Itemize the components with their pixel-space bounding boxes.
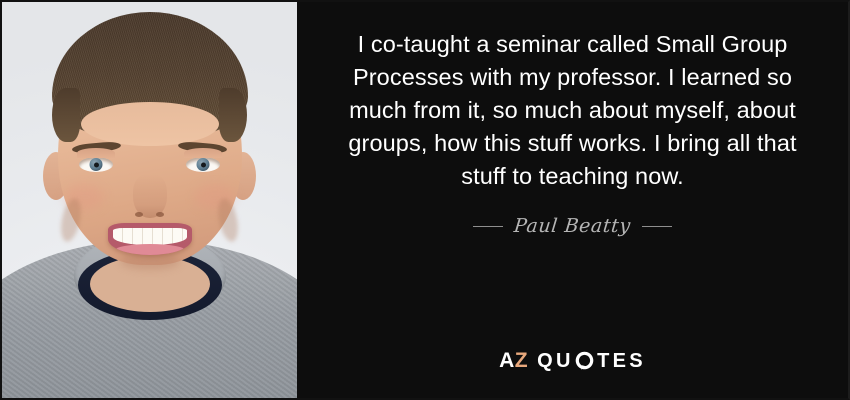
hair-temple-left <box>52 88 80 142</box>
quote-pane: I co-taught a seminar called Small Group… <box>297 0 850 400</box>
logo-quotes-suffix: TES <box>597 351 646 371</box>
author-name: Paul Beatty <box>513 215 632 237</box>
portrait-photo <box>2 2 297 398</box>
logo-quotes-wordmark: QU TES <box>537 351 646 371</box>
attribution-dash-left <box>473 226 503 227</box>
logo-quotes-prefix: QU <box>537 351 574 371</box>
speech-bubble-icon <box>575 351 594 370</box>
eye-right <box>186 157 220 172</box>
logo-az-wordmark: AZ <box>499 350 528 371</box>
eye-left <box>79 157 113 172</box>
attribution: Paul Beatty <box>473 215 672 237</box>
hair-temple-right <box>219 88 247 142</box>
lower-lip <box>114 244 186 255</box>
logo-letter-a: A <box>499 349 515 372</box>
iris-right <box>197 158 210 171</box>
attribution-dash-right <box>642 226 672 227</box>
teeth <box>113 228 187 245</box>
eyelid-right <box>184 148 222 158</box>
quote-text: I co-taught a seminar called Small Group… <box>340 28 806 193</box>
nostril-right <box>156 212 164 217</box>
logo-letter-z: Z <box>515 349 528 372</box>
quote-card: I co-taught a seminar called Small Group… <box>0 0 850 400</box>
mouth <box>108 223 192 255</box>
eyelid-left <box>77 148 115 158</box>
iris-left <box>90 158 103 171</box>
nostril-left <box>135 212 143 217</box>
smile-line-right <box>215 197 242 244</box>
portrait-pane <box>0 0 297 400</box>
azquotes-logo[interactable]: AZ QU TES <box>297 350 848 371</box>
